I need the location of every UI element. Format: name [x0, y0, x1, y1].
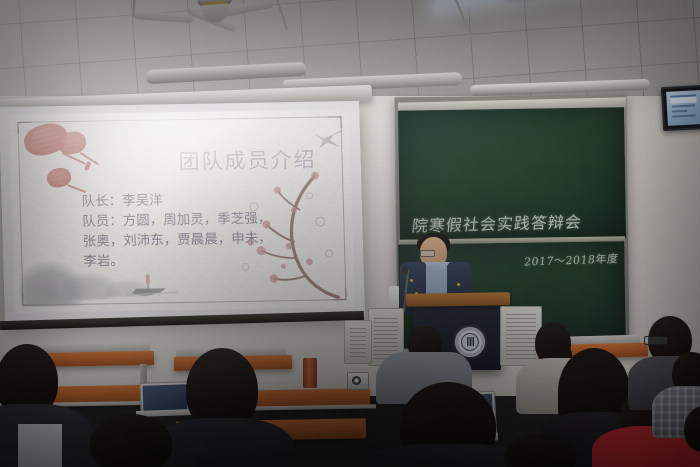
- laptop-screen: [143, 384, 188, 412]
- podium-top: [406, 292, 510, 306]
- cabinet-grill: [506, 313, 536, 359]
- microphone-icon: [402, 266, 408, 275]
- emblem-mark: [464, 337, 477, 346]
- jacket-button: [410, 279, 413, 282]
- cabinet-grill: [350, 327, 366, 357]
- lantern-ribs: [50, 169, 68, 186]
- display-text-line: [672, 110, 687, 112]
- camera-lens-icon: [352, 376, 361, 385]
- wall-display[interactable]: [661, 85, 700, 131]
- display-screen: [666, 90, 700, 126]
- sail-boat-icon: [126, 272, 179, 301]
- audience-head: [90, 414, 172, 467]
- projector-screen[interactable]: 团队成员介绍 队长：李吴洋 队员：方圆，周加灵，季芝强， 张奥，刘沛东，贾晨晨，…: [0, 101, 365, 323]
- university-emblem: [455, 327, 485, 357]
- audience-shoulders: [152, 418, 294, 467]
- lantern-ribs: [62, 133, 83, 152]
- speaker-glasses-icon: [420, 250, 435, 257]
- jacket-button: [457, 283, 460, 286]
- blackboard-date-line: 2017～2018年度: [523, 250, 619, 269]
- display-window: [670, 94, 696, 103]
- glasses-icon: [644, 336, 668, 345]
- presentation-slide: 团队成员介绍 队长：李吴洋 队员：方圆，周加灵，季芝强， 张奥，刘沛东，贾晨晨，…: [9, 109, 354, 313]
- classroom-photo: 团队成员介绍 队长：李吴洋 队员：方圆，周加灵，季芝强， 张奥，刘沛东，贾晨晨，…: [0, 0, 700, 467]
- audience-shirt: [18, 424, 62, 467]
- av-cabinet-far-left: [344, 320, 372, 364]
- plum-blossom-branch-icon: [222, 149, 346, 301]
- ceiling-fan-left: [172, 0, 258, 40]
- display-text-line: [672, 114, 695, 117]
- display-text-line: [672, 104, 695, 107]
- water-bottle: [389, 286, 399, 308]
- thermos-cup: [303, 358, 317, 388]
